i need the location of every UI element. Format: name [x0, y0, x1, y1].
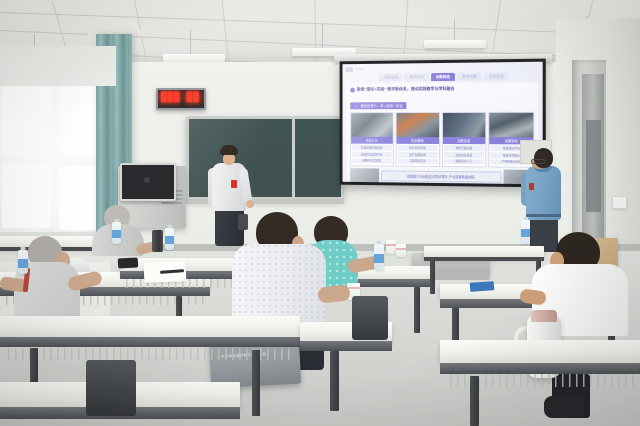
- water-bottle: [112, 222, 121, 244]
- slide-tab-3-active: 创新特色: [431, 73, 455, 81]
- classroom-photo: ███ ██ ████ LOGO 课程背景 教学设计 创新特色 教学成果 反思改…: [0, 0, 640, 426]
- slide-card: 实验平台 实验设备升级改造 虚拟仿真实验平台 远程共享实验室: [350, 112, 393, 167]
- slide-card: 创新实验 学科竞赛训练 创新创业项目 科研初步入门: [441, 112, 486, 168]
- slide-tab-2: 教学设计: [405, 73, 429, 81]
- shoe: [544, 396, 584, 418]
- slide-cards: 实验平台 实验设备升级改造 虚拟仿真实验平台 远程共享实验室 实训基地 校企合作…: [348, 112, 536, 168]
- upper-left-wall: [0, 46, 116, 86]
- bullet-dot-icon: [350, 87, 355, 92]
- card-item: 远程共享实验室: [352, 158, 391, 164]
- card-item: 实验设备升级改造: [352, 145, 391, 151]
- water-bottle: [18, 250, 28, 274]
- blue-book: [470, 281, 495, 292]
- ceiling-light-2: [163, 54, 225, 62]
- presentation-slide: LOGO 课程背景 教学设计 创新特色 教学成果 反思改进 聚焦“理论+实践” …: [343, 62, 543, 185]
- presenter-badge: [231, 180, 237, 188]
- water-bottle: [374, 244, 384, 270]
- card-item: 生产实践轮岗: [397, 152, 437, 158]
- slide-tab-5: 反思改进: [484, 72, 509, 80]
- water-bottle: [165, 228, 174, 250]
- slide-body: 聚焦“理论+实践” 教学新体系，推动实践教学与学科融合 一、教研改革产—学 | …: [346, 82, 538, 181]
- slide-tab-4: 教学成果: [457, 73, 482, 81]
- presenter-hair: [220, 145, 238, 155]
- glasses-icon: [531, 159, 545, 164]
- lamp-rod: [190, 30, 191, 56]
- slide-card: 实训基地 校企合作基地 生产实践轮岗 工程项目实训: [395, 112, 439, 167]
- door-glass-panel: [586, 120, 601, 212]
- thermos-black: [152, 230, 163, 252]
- water-bottle: [521, 220, 530, 244]
- slide-logo: LOGO: [345, 66, 363, 72]
- smartphone: [118, 257, 138, 268]
- blue-polo-man-hem: [526, 214, 561, 217]
- lamp-rod: [322, 24, 323, 50]
- desk-front-right: [440, 340, 640, 364]
- lamp-rod: [454, 20, 455, 42]
- podium-monitor[interactable]: [120, 163, 176, 201]
- chair[interactable]: [86, 360, 136, 416]
- card-item: 虚拟仿真实验平台: [352, 151, 391, 157]
- bottom-photo-left: [350, 168, 379, 182]
- slide-logo-text: LOGO: [355, 67, 363, 71]
- card-photo-circuit: [442, 113, 485, 137]
- chair[interactable]: [352, 296, 388, 340]
- ceiling-light-4: [424, 40, 486, 48]
- thermos-cap: [531, 310, 557, 322]
- card-photo-electronics: [490, 113, 534, 137]
- card-item: 校企合作基地: [397, 145, 437, 151]
- slide-bottom-row: 实践能力与创新意识同步提升·产业需求精准对接: [348, 166, 536, 184]
- paper-cup: [386, 240, 396, 254]
- led-display-sign: ███ ██ ████: [156, 88, 206, 110]
- card-item: 创新创业项目: [443, 152, 484, 158]
- card-photo-workshop: [396, 113, 438, 137]
- card-item: 工程项目实训: [397, 158, 437, 164]
- blue-polo-man-body: [526, 166, 561, 220]
- light-switch[interactable]: [612, 196, 627, 209]
- slide-tab-1: 课程背景: [379, 73, 403, 81]
- slide-headline-text: 聚焦“理论+实践” 教学新体系，推动实践教学与学科融合: [357, 86, 455, 93]
- blue-polo-man-head: [534, 148, 553, 168]
- paper-cup: [396, 244, 406, 257]
- card-item: 科研初步入门: [443, 159, 484, 165]
- presenter-hand: [246, 200, 254, 208]
- slide-bottom-banner: 实践能力与创新意识同步提升·产业需求精准对接: [381, 170, 501, 182]
- led-display-text: ███ ██ ████: [161, 93, 206, 103]
- card-item: 学科竞赛训练: [443, 145, 484, 151]
- slide-tabbar: 课程背景 教学设计 创新特色 教学成果 反思改进: [344, 71, 542, 82]
- blue-polo-man-badge: [529, 183, 534, 190]
- projection-screen: LOGO 课程背景 教学设计 创新特色 教学成果 反思改进 聚焦“理论+实践” …: [340, 59, 546, 188]
- chair[interactable]: [238, 214, 248, 230]
- desk-front-left: [0, 316, 300, 338]
- slide-headline: 聚焦“理论+实践” 教学新体系，推动实践教学与学科融合: [350, 85, 536, 92]
- card-photo-lab: [351, 113, 392, 137]
- slide-subtag: 一、教研改革产—学 | 研用一体化: [350, 102, 406, 109]
